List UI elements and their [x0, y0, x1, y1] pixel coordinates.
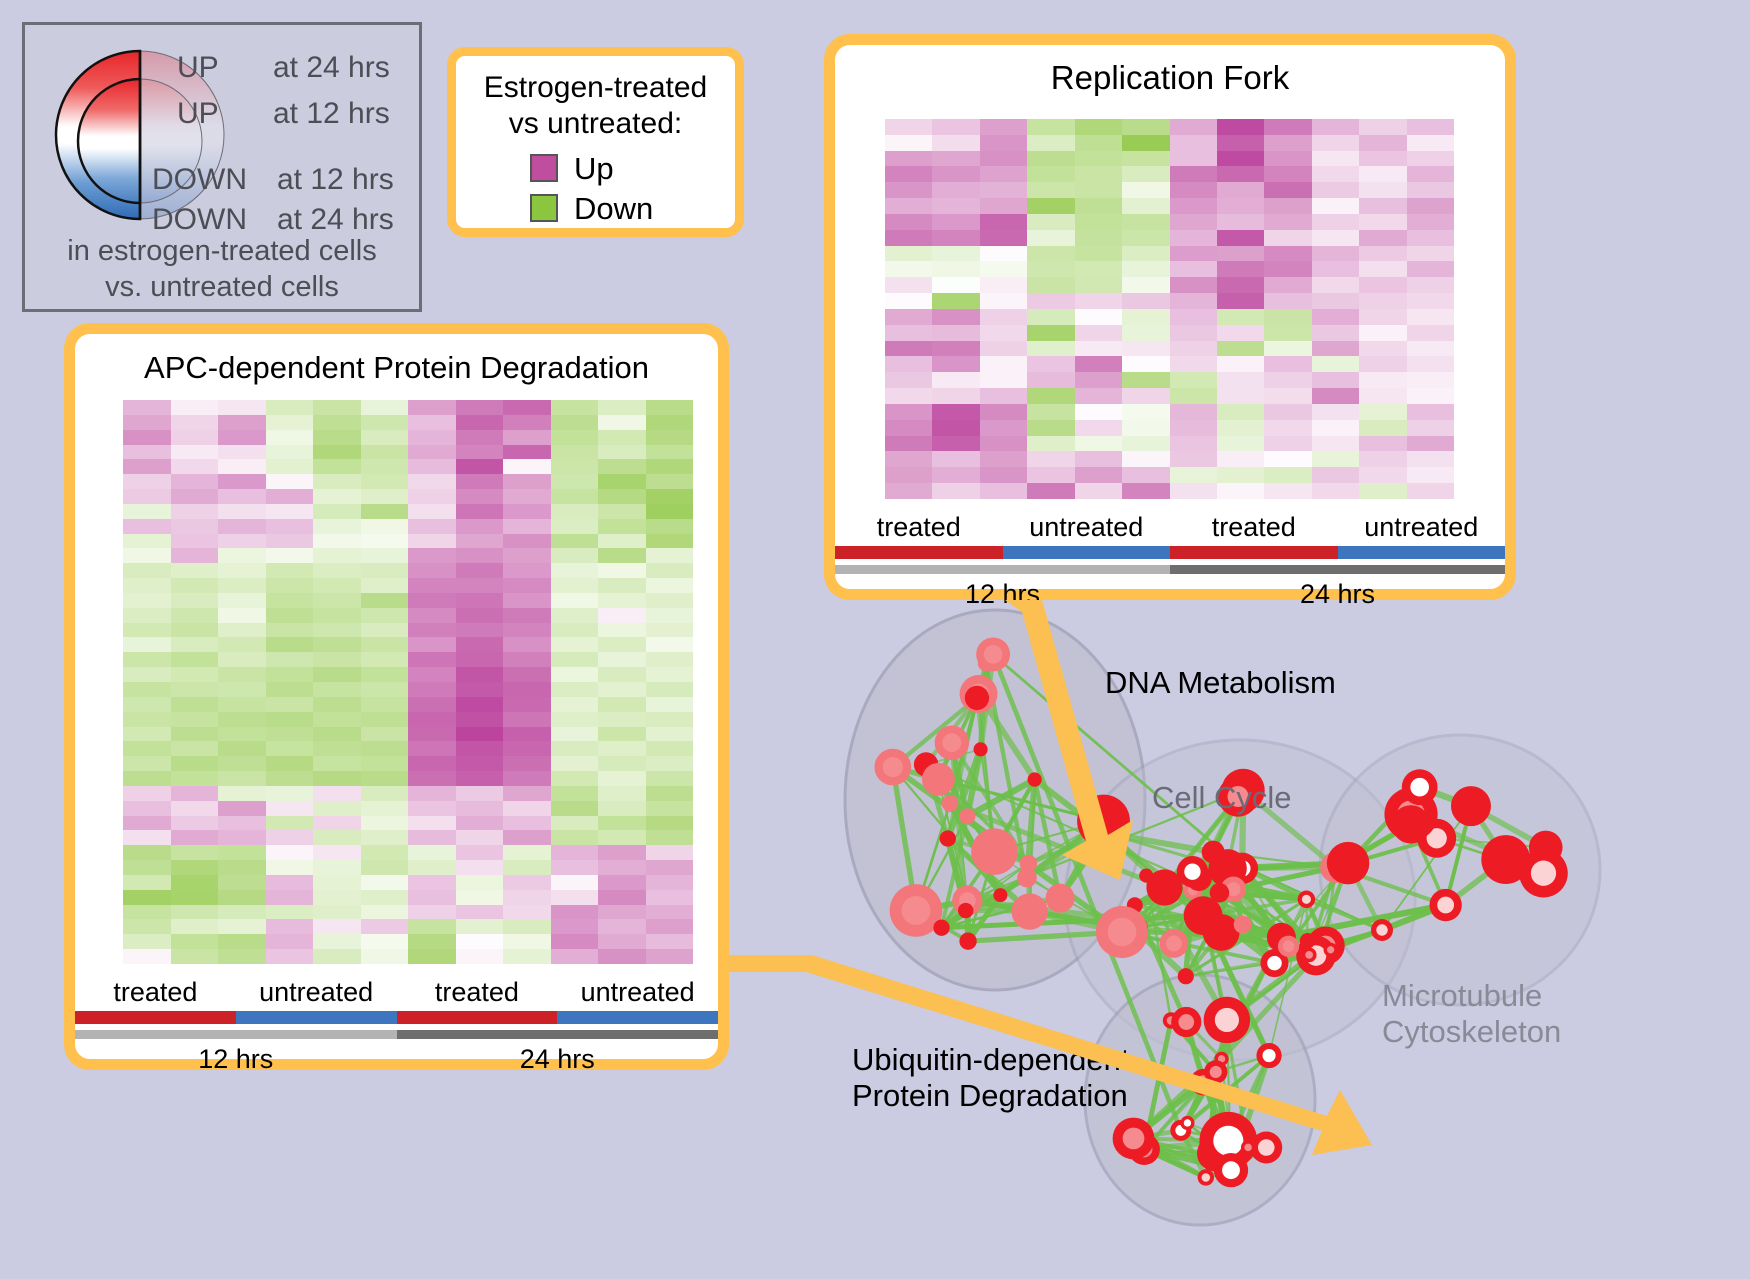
network-node[interactable] [1096, 906, 1148, 958]
heatmap-cell [646, 593, 694, 608]
heatmap-cell [551, 934, 599, 949]
panel-replication-fork-title: Replication Fork [835, 45, 1505, 97]
heatmap-cell [551, 548, 599, 563]
heatmap-cell [218, 578, 266, 593]
color-key-caption: in estrogen-treated cells vs. untreated … [25, 233, 419, 305]
network-node[interactable] [1210, 883, 1230, 903]
network-node[interactable] [1392, 805, 1430, 843]
heatmap-cell [1312, 372, 1359, 388]
heatmap-cell [361, 890, 409, 905]
heatmap-cell [1075, 309, 1122, 325]
heatmap-cell [266, 474, 314, 489]
heatmap-cell [1312, 467, 1359, 483]
heatmap-cell [1122, 404, 1169, 420]
heatmap-cell [408, 845, 456, 860]
heatmap-cell [646, 845, 694, 860]
condition-bar-segment [835, 546, 1003, 559]
heatmap-cell [503, 548, 551, 563]
heatmap-cell [1407, 198, 1454, 214]
heatmap-cell [646, 905, 694, 920]
heatmap-cell [123, 652, 171, 667]
heatmap-cell [503, 905, 551, 920]
heatmap-cell [932, 277, 979, 293]
network-node[interactable] [1371, 919, 1393, 941]
estrogen-legend-title-line1: Estrogen-treated [456, 70, 735, 106]
heatmap-cell [885, 356, 932, 372]
heatmap-cell [218, 593, 266, 608]
heatmap-cell [218, 816, 266, 831]
heatmap-cell [361, 445, 409, 460]
heatmap-cell [361, 816, 409, 831]
network-node[interactable] [1092, 819, 1121, 848]
heatmap-cell [1170, 420, 1217, 436]
network-node[interactable] [1178, 968, 1194, 984]
heatmap-cell [1075, 467, 1122, 483]
heatmap-cell [1217, 119, 1264, 135]
heatmap-cell [598, 697, 646, 712]
heatmap-cell [598, 578, 646, 593]
heatmap-cell [980, 277, 1027, 293]
heatmap-cell [980, 135, 1027, 151]
heatmap-cell [1407, 261, 1454, 277]
heatmap-cell [361, 519, 409, 534]
network-node[interactable] [1171, 1007, 1201, 1037]
heatmap-cell [503, 682, 551, 697]
heatmap-cell [171, 816, 219, 831]
heatmap-cell [171, 727, 219, 742]
heatmap-cell [980, 182, 1027, 198]
network-node[interactable] [942, 795, 959, 812]
heatmap-cell [551, 519, 599, 534]
network-node[interactable] [1327, 842, 1369, 884]
heatmap-cell [266, 919, 314, 934]
heatmap-cell [266, 489, 314, 504]
heatmap-cell [1075, 198, 1122, 214]
heatmap-cell [408, 534, 456, 549]
network-node[interactable] [1203, 914, 1240, 951]
heatmap-cell [1407, 483, 1454, 499]
heatmap-cell [408, 949, 456, 964]
heatmap-cell [598, 905, 646, 920]
heatmap-cell [646, 445, 694, 460]
heatmap-cell [551, 697, 599, 712]
heatmap-cell [218, 608, 266, 623]
heatmap-cell [456, 504, 504, 519]
heatmap-cell [1170, 436, 1217, 452]
heatmap-cell [646, 430, 694, 445]
color-key-caption-line2: vs. untreated cells [25, 269, 419, 305]
heatmap-cell [408, 830, 456, 845]
heatmap-cell [1312, 277, 1359, 293]
heatmap-cell [980, 404, 1027, 420]
heatmap-cell [456, 697, 504, 712]
heatmap-replication-fork [885, 119, 1454, 499]
heatmap-cell [980, 119, 1027, 135]
heatmap-cell [408, 608, 456, 623]
heatmap-cell [456, 890, 504, 905]
network-node[interactable] [1204, 997, 1250, 1043]
heatmap-cell [1170, 467, 1217, 483]
heatmap-cell [551, 415, 599, 430]
heatmap-cell [313, 578, 361, 593]
heatmap-cell [1027, 166, 1074, 182]
heatmap-cell [980, 356, 1027, 372]
heatmap-cell [266, 593, 314, 608]
heatmap-cell [456, 563, 504, 578]
network-node[interactable] [1139, 869, 1153, 883]
heatmap-cell [551, 504, 599, 519]
heatmap-cell [1122, 293, 1169, 309]
heatmap-cell [598, 741, 646, 756]
heatmap-cell [361, 534, 409, 549]
heatmap-cell [1359, 182, 1406, 198]
heatmap-cell [885, 483, 932, 499]
network-node[interactable] [959, 932, 976, 949]
heatmap-cell [503, 949, 551, 964]
time-bar-replication [835, 565, 1505, 574]
network-node[interactable] [1451, 786, 1491, 826]
heatmap-cell [980, 467, 1027, 483]
network-node[interactable] [1198, 1169, 1214, 1185]
heatmap-cell [171, 771, 219, 786]
heatmap-cell [885, 436, 932, 452]
heatmap-cell [551, 845, 599, 860]
heatmap-cell [932, 135, 979, 151]
heatmap-cell [1407, 404, 1454, 420]
heatmap-cell [598, 563, 646, 578]
heatmap-cell [408, 786, 456, 801]
network-node[interactable] [922, 763, 955, 796]
heatmap-cell [503, 400, 551, 415]
heatmap-cell [646, 489, 694, 504]
heatmap-cell [361, 786, 409, 801]
heatmap-cell [171, 890, 219, 905]
network-node[interactable] [1046, 884, 1075, 913]
heatmap-cell [313, 519, 361, 534]
heatmap-cell [1359, 214, 1406, 230]
heatmap-cell [123, 504, 171, 519]
heatmap-cell [171, 637, 219, 652]
heatmap-cell [1359, 483, 1406, 499]
heatmap-cell [171, 430, 219, 445]
network-node[interactable] [940, 830, 956, 846]
heatmap-cell [1217, 341, 1264, 357]
heatmap-cell [123, 578, 171, 593]
heatmap-cell [1027, 119, 1074, 135]
heatmap-cell [1407, 166, 1454, 182]
heatmap-cell [266, 637, 314, 652]
heatmap-cell [1407, 372, 1454, 388]
network-node[interactable] [1028, 772, 1042, 786]
heatmap-cell [1075, 451, 1122, 467]
heatmap-cell [1170, 341, 1217, 357]
heatmap-cell [1170, 404, 1217, 420]
heatmap-cell [885, 214, 932, 230]
heatmap-cell [932, 182, 979, 198]
heatmap-cell [361, 593, 409, 608]
heatmap-cell [266, 756, 314, 771]
network-node[interactable] [993, 888, 1007, 902]
heatmap-cell [1264, 246, 1311, 262]
network-node[interactable] [1214, 1153, 1248, 1187]
heatmap-cell [1075, 166, 1122, 182]
heatmap-cell [1264, 277, 1311, 293]
heatmap-cell [885, 341, 932, 357]
heatmap-cell [408, 415, 456, 430]
heatmap-cell [1264, 135, 1311, 151]
heatmap-cell [123, 667, 171, 682]
heatmap-cell [456, 623, 504, 638]
heatmap-cell [361, 949, 409, 964]
heatmap-cell [313, 919, 361, 934]
heatmap-cell [408, 905, 456, 920]
heatmap-cell [932, 372, 979, 388]
heatmap-cell [1217, 372, 1264, 388]
heatmap-cell [171, 459, 219, 474]
heatmap-cell [456, 578, 504, 593]
heatmap-apc-degradation [123, 400, 693, 964]
panel-apc-degradation: APC-dependent Protein Degradation treate… [64, 323, 729, 1070]
network-node[interactable] [1241, 1140, 1255, 1154]
heatmap-cell [123, 400, 171, 415]
network-node[interactable] [971, 828, 1017, 874]
heatmap-cell [218, 563, 266, 578]
heatmap-cell [1027, 372, 1074, 388]
network-node[interactable] [874, 749, 911, 786]
heatmap-cell [1027, 404, 1074, 420]
network-node[interactable] [965, 686, 989, 710]
heatmap-cell [218, 519, 266, 534]
heatmap-cell [361, 756, 409, 771]
network-node[interactable] [1429, 889, 1461, 921]
heatmap-cell [1027, 467, 1074, 483]
network-node[interactable] [1020, 855, 1037, 872]
heatmap-cell [1027, 198, 1074, 214]
heatmap-cell [361, 608, 409, 623]
heatmap-cell [123, 905, 171, 920]
heatmap-cell [361, 578, 409, 593]
heatmap-cell [1217, 436, 1264, 452]
heatmap-cell [313, 727, 361, 742]
heatmap-cell [266, 445, 314, 460]
network-node[interactable] [935, 725, 969, 759]
time-bar-segment [397, 1030, 719, 1039]
heatmap-cell [1264, 341, 1311, 357]
heatmap-cell [456, 445, 504, 460]
heatmap-cell [980, 198, 1027, 214]
network-diagram [770, 600, 1750, 1279]
heatmap-cell [885, 198, 932, 214]
key-row-1-time: at 12 hrs [273, 99, 390, 129]
network-node[interactable] [1300, 933, 1316, 949]
heatmap-cell [456, 489, 504, 504]
heatmap-cell [361, 845, 409, 860]
heatmap-cell [1027, 246, 1074, 262]
network-node[interactable] [1324, 943, 1338, 957]
heatmap-cell [1407, 230, 1454, 246]
heatmap-cell [551, 771, 599, 786]
heatmap-cell [456, 741, 504, 756]
heatmap-cell [123, 548, 171, 563]
heatmap-cell [1264, 230, 1311, 246]
heatmap-cell [1407, 341, 1454, 357]
heatmap-cell [456, 816, 504, 831]
heatmap-cell [932, 436, 979, 452]
heatmap-cell [598, 652, 646, 667]
heatmap-cell [1217, 388, 1264, 404]
network-node[interactable] [976, 637, 1010, 671]
heatmap-cell [1312, 261, 1359, 277]
heatmap-cell [171, 801, 219, 816]
heatmap-cell [313, 459, 361, 474]
network-node[interactable] [1204, 1060, 1227, 1083]
network-node[interactable] [1113, 1118, 1155, 1160]
heatmap-cell [456, 771, 504, 786]
heatmap-cell [266, 786, 314, 801]
heatmap-cell [361, 474, 409, 489]
heatmap-cell [1027, 261, 1074, 277]
network-node[interactable] [1180, 1116, 1194, 1130]
heatmap-cell [932, 356, 979, 372]
network-node[interactable] [1256, 1043, 1281, 1068]
heatmap-cell [361, 504, 409, 519]
heatmap-cell [1170, 277, 1217, 293]
heatmap-cell [123, 474, 171, 489]
sample-label: untreated [1338, 511, 1506, 543]
heatmap-cell [361, 682, 409, 697]
heatmap-cell [503, 875, 551, 890]
heatmap-cell [1359, 293, 1406, 309]
heatmap-cell [408, 860, 456, 875]
heatmap-cell [1170, 293, 1217, 309]
heatmap-cell [598, 712, 646, 727]
heatmap-cell [503, 415, 551, 430]
heatmap-cell [456, 474, 504, 489]
network-node[interactable] [1298, 891, 1316, 909]
heatmap-cell [1122, 436, 1169, 452]
heatmap-cell [456, 905, 504, 920]
heatmap-cell [361, 830, 409, 845]
heatmap-cell [123, 771, 171, 786]
heatmap-cell [171, 934, 219, 949]
heatmap-cell [1407, 356, 1454, 372]
heatmap-cell [266, 712, 314, 727]
heatmap-cell [218, 623, 266, 638]
heatmap-cell [313, 445, 361, 460]
network-node[interactable] [933, 920, 949, 936]
heatmap-cell [266, 801, 314, 816]
heatmap-cell [313, 801, 361, 816]
heatmap-cell [171, 534, 219, 549]
network-node[interactable] [1402, 769, 1438, 805]
network-node[interactable] [1519, 849, 1568, 898]
heatmap-cell [646, 563, 694, 578]
heatmap-cell [1359, 436, 1406, 452]
heatmap-cell [503, 667, 551, 682]
estrogen-legend-items: Up Down [456, 148, 735, 228]
heatmap-cell [1217, 151, 1264, 167]
heatmap-cell [1075, 261, 1122, 277]
sample-label: untreated [236, 976, 397, 1008]
network-node[interactable] [958, 903, 973, 918]
time-label: 24 hrs [397, 1043, 719, 1075]
condition-bar-segment [1338, 546, 1506, 559]
condition-bar-segment [397, 1011, 558, 1024]
heatmap-cell [1312, 198, 1359, 214]
heatmap-cell [1075, 325, 1122, 341]
heatmap-cell [1264, 436, 1311, 452]
heatmap-cell [551, 608, 599, 623]
network-node[interactable] [1160, 929, 1189, 958]
condition-bar-apc [75, 1011, 718, 1024]
heatmap-cell [980, 372, 1027, 388]
legend-item-up: Up [530, 148, 735, 188]
heatmap-cell [1122, 230, 1169, 246]
heatmap-cell [1264, 483, 1311, 499]
network-node[interactable] [1012, 893, 1048, 929]
heatmap-cell [456, 415, 504, 430]
network-node[interactable] [959, 808, 975, 824]
heatmap-cell [218, 756, 266, 771]
heatmap-cell [1170, 356, 1217, 372]
heatmap-cell [551, 534, 599, 549]
network-node[interactable] [1278, 936, 1299, 957]
heatmap-cell [218, 949, 266, 964]
heatmap-cell [932, 230, 979, 246]
heatmap-cell [1359, 246, 1406, 262]
heatmap-cell [932, 341, 979, 357]
heatmap-cell [456, 712, 504, 727]
heatmap-cell [503, 741, 551, 756]
heatmap-cell [551, 712, 599, 727]
heatmap-cell [1217, 293, 1264, 309]
heatmap-cell [885, 182, 932, 198]
heatmap-cell [1312, 151, 1359, 167]
heatmap-cell [313, 400, 361, 415]
heatmap-cell [218, 905, 266, 920]
heatmap-cell [503, 445, 551, 460]
heatmap-cell [408, 756, 456, 771]
heatmap-cell [361, 727, 409, 742]
network-node[interactable] [1302, 947, 1317, 962]
heatmap-cell [1312, 309, 1359, 325]
heatmap-cell [266, 430, 314, 445]
network-node[interactable] [1234, 916, 1252, 934]
figure-canvas: UP at 24 hrs UP at 12 hrs DOWN at 12 hrs… [0, 0, 1750, 1279]
heatmap-cell [218, 534, 266, 549]
heatmap-cell [123, 890, 171, 905]
key-row-3-time: at 24 hrs [277, 205, 394, 235]
heatmap-cell [1027, 309, 1074, 325]
heatmap-cell [980, 166, 1027, 182]
heatmap-cell [171, 845, 219, 860]
heatmap-cell [1122, 214, 1169, 230]
heatmap-cell [1075, 119, 1122, 135]
heatmap-cell [266, 875, 314, 890]
network-node[interactable] [974, 742, 988, 756]
heatmap-cell [646, 504, 694, 519]
heatmap-cell [551, 801, 599, 816]
heatmap-cell [456, 400, 504, 415]
heatmap-cell [171, 919, 219, 934]
heatmap-cell [598, 786, 646, 801]
heatmap-cell [266, 890, 314, 905]
heatmap-cell [551, 400, 599, 415]
heatmap-cell [932, 293, 979, 309]
heatmap-cell [218, 504, 266, 519]
heatmap-cell [1312, 436, 1359, 452]
heatmap-cell [361, 459, 409, 474]
